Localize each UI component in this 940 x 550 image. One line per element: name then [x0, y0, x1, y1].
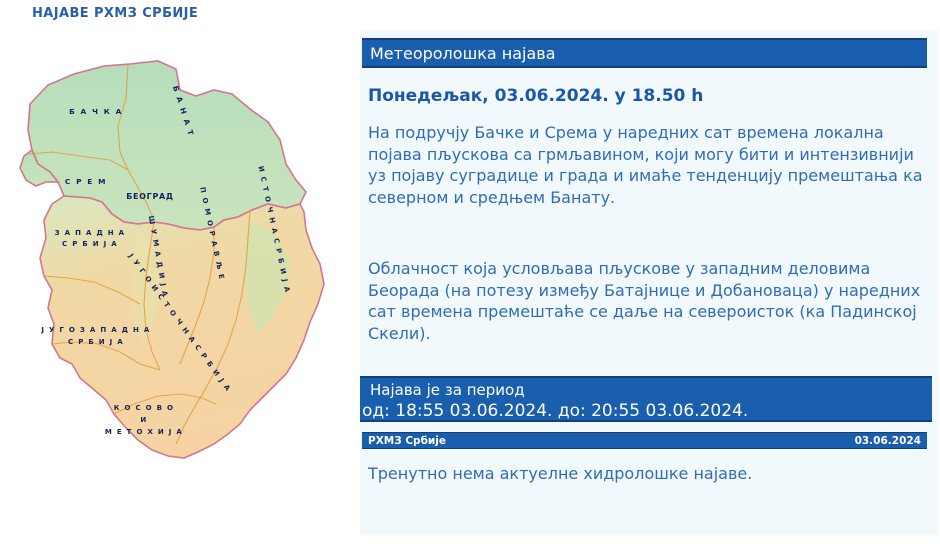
hydrology-status-text: Тренутно нема актуелне хидролошке најаве… — [368, 463, 924, 484]
map-label-jugozapadna-srbija-2: С Р Б И Ј А — [68, 338, 124, 346]
announcement-paragraph-1: На подручју Бачке и Срема у наредних сат… — [368, 122, 924, 208]
map-label-backa: Б А Ч К А — [69, 107, 123, 116]
source-date: 03.06.2024 — [855, 435, 921, 447]
map-label-zapadna-srbija-2: С Р Б И Ј А — [62, 240, 118, 248]
page-title: НАЈАВЕ РХМЗ СРБИЈЕ — [32, 6, 198, 21]
map-label-kosovo-3: М Е Т О Х И Ј А — [105, 428, 183, 436]
validity-period-range: од: 18:55 03.06.2024. до: 20:55 03.06.20… — [362, 400, 932, 422]
serbia-region-map[interactable]: Б А Ч К А Б А Н А Т С Р Е М БЕОГРАД З А … — [18, 52, 348, 497]
map-label-kosovo-1: К О С О В О — [114, 404, 175, 412]
validity-period-title: Најава је за период — [370, 380, 932, 400]
validity-period-bar: Најава је за период од: 18:55 03.06.2024… — [360, 376, 932, 422]
announcement-header-bar: Метеоролошка најава — [362, 38, 927, 68]
map-label-zapadna-srbija-1: З А П А Д Н А — [55, 229, 126, 237]
map-label-jugozapadna-srbija-1: Ј У Г О З А П А Д Н А — [40, 326, 150, 334]
map-label-srem: С Р Е М — [65, 177, 107, 186]
announcement-header-label: Метеоролошка најава — [370, 44, 556, 63]
source-label: РХМЗ Србије — [368, 435, 446, 447]
announcement-date: Понедељак, 03.06.2024. у 18.50 h — [368, 86, 928, 106]
map-svg: Б А Ч К А Б А Н А Т С Р Е М БЕОГРАД З А … — [18, 52, 348, 497]
announcement-paragraph-2: Облачност која условљава пљускове у запа… — [368, 258, 924, 344]
map-label-kosovo-2: И — [140, 416, 147, 424]
announcement-panel: Метеоролошка најава Понедељак, 03.06.202… — [360, 30, 938, 535]
map-label-beograd: БЕОГРАД — [126, 192, 174, 201]
source-bar: РХМЗ Србије 03.06.2024 — [362, 432, 927, 449]
